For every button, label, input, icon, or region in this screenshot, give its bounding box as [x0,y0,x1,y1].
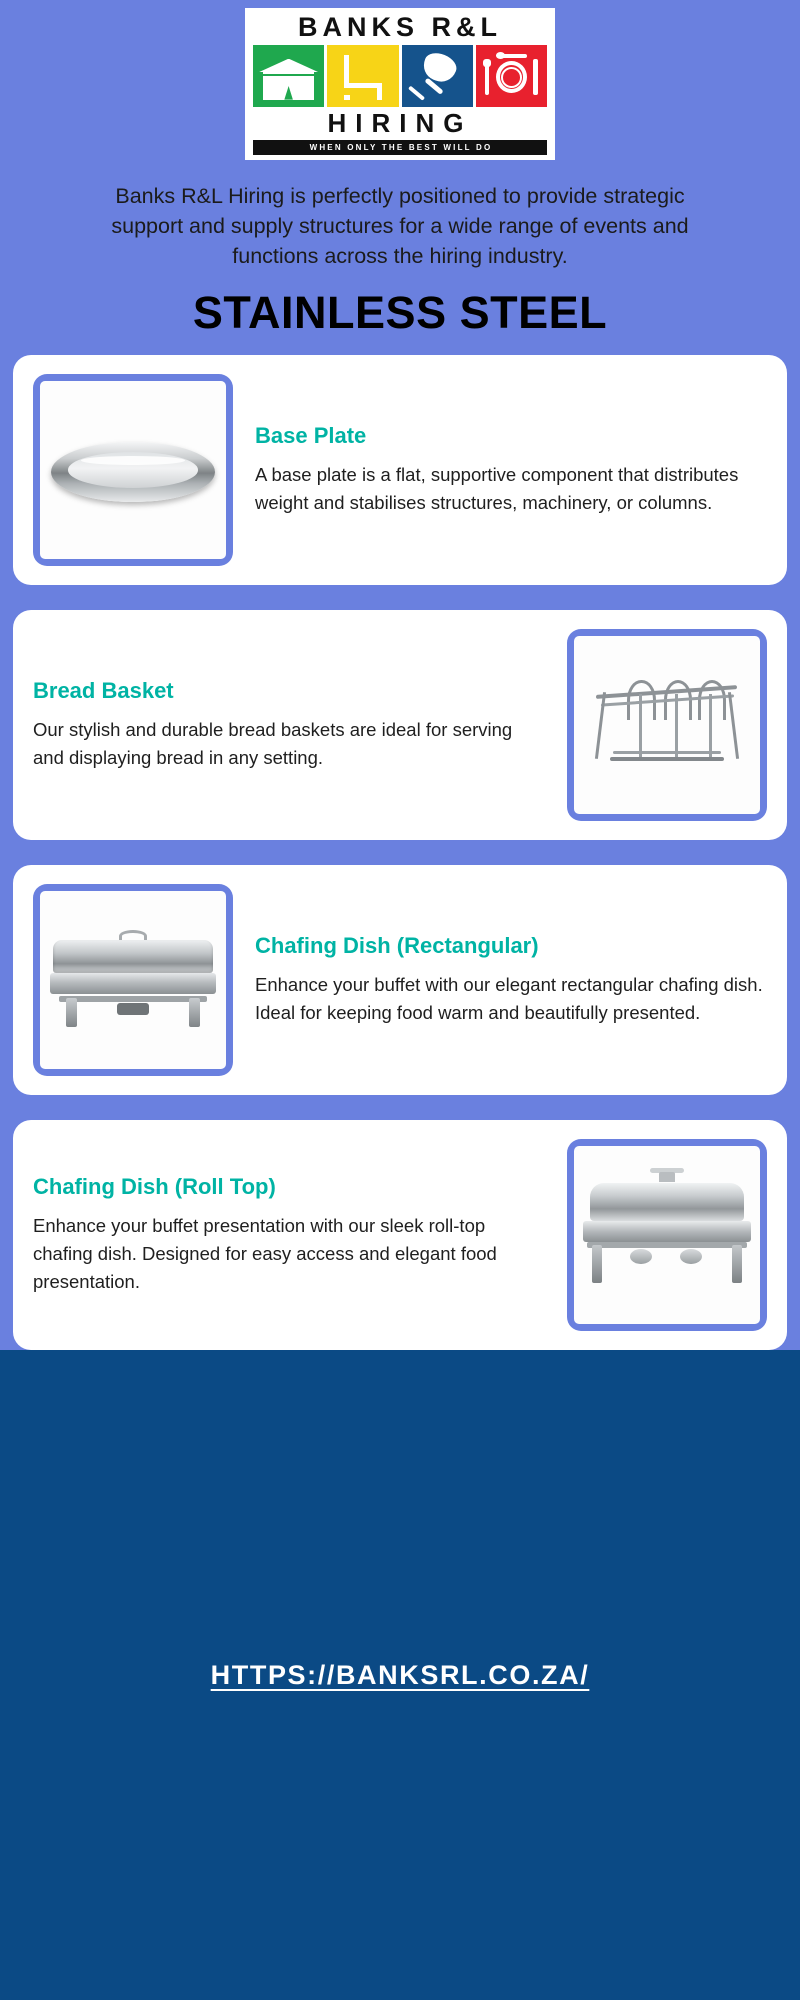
product-card-base-plate: Base Plate A base plate is a flat, suppo… [13,355,787,585]
marquee-tent-icon [253,45,324,107]
infographic-page: BANKS R&L HIRING WHEN ONLY THE BEST WILL… [0,0,800,2000]
product-card-chafing-dish-rectangular: Chafing Dish (Rectangular) Enhance your … [13,865,787,1095]
product-card-bread-basket: Bread Basket Our stylish and durable bre… [13,610,787,840]
logo-wordmark-top: BANKS R&L [253,14,547,41]
logo-icon-row [253,45,547,107]
chafing-dish-rectangular-thumbnail [33,884,233,1076]
bread-basket-text: Bread Basket Our stylish and durable bre… [33,678,545,772]
wine-glass-icon [402,45,473,107]
plate-cutlery-icon [476,45,547,107]
card-title: Base Plate [255,423,767,449]
bread-basket-thumbnail [567,629,767,821]
base-plate-thumbnail [33,374,233,566]
chafing-dish-roll-top-photo [574,1146,760,1324]
intro-paragraph: Banks R&L Hiring is perfectly positioned… [100,182,700,271]
card-body: A base plate is a flat, supportive compo… [255,461,767,517]
page-title: STAINLESS STEEL [50,287,750,339]
logo-tagline: WHEN ONLY THE BEST WILL DO [253,140,547,155]
base-plate-text: Base Plate A base plate is a flat, suppo… [255,423,767,517]
card-body: Enhance your buffet presentation with ou… [33,1212,545,1296]
bread-basket-photo [574,636,760,814]
logo-wordmark-bottom: HIRING [253,110,547,137]
footer-bar: HTTPS://BANKSRL.CO.ZA/ [0,1350,800,2000]
product-card-chafing-dish-roll-top: Chafing Dish (Roll Top) Enhance your buf… [13,1120,787,1350]
chair-icon [327,45,398,107]
website-url-link[interactable]: HTTPS://BANKSRL.CO.ZA/ [211,1660,590,1691]
base-plate-photo [40,381,226,559]
card-title: Chafing Dish (Roll Top) [33,1174,545,1200]
company-logo: BANKS R&L HIRING WHEN ONLY THE BEST WILL… [245,8,555,160]
product-card-list: Base Plate A base plate is a flat, suppo… [0,355,800,1350]
chafing-dish-rectangular-text: Chafing Dish (Rectangular) Enhance your … [255,933,767,1027]
chafing-dish-roll-top-thumbnail [567,1139,767,1331]
chafing-dish-rectangular-photo [40,891,226,1069]
card-title: Bread Basket [33,678,545,704]
chafing-dish-roll-top-text: Chafing Dish (Roll Top) Enhance your buf… [33,1174,545,1296]
card-body: Our stylish and durable bread baskets ar… [33,716,545,772]
card-body: Enhance your buffet with our elegant rec… [255,971,767,1027]
card-title: Chafing Dish (Rectangular) [255,933,767,959]
